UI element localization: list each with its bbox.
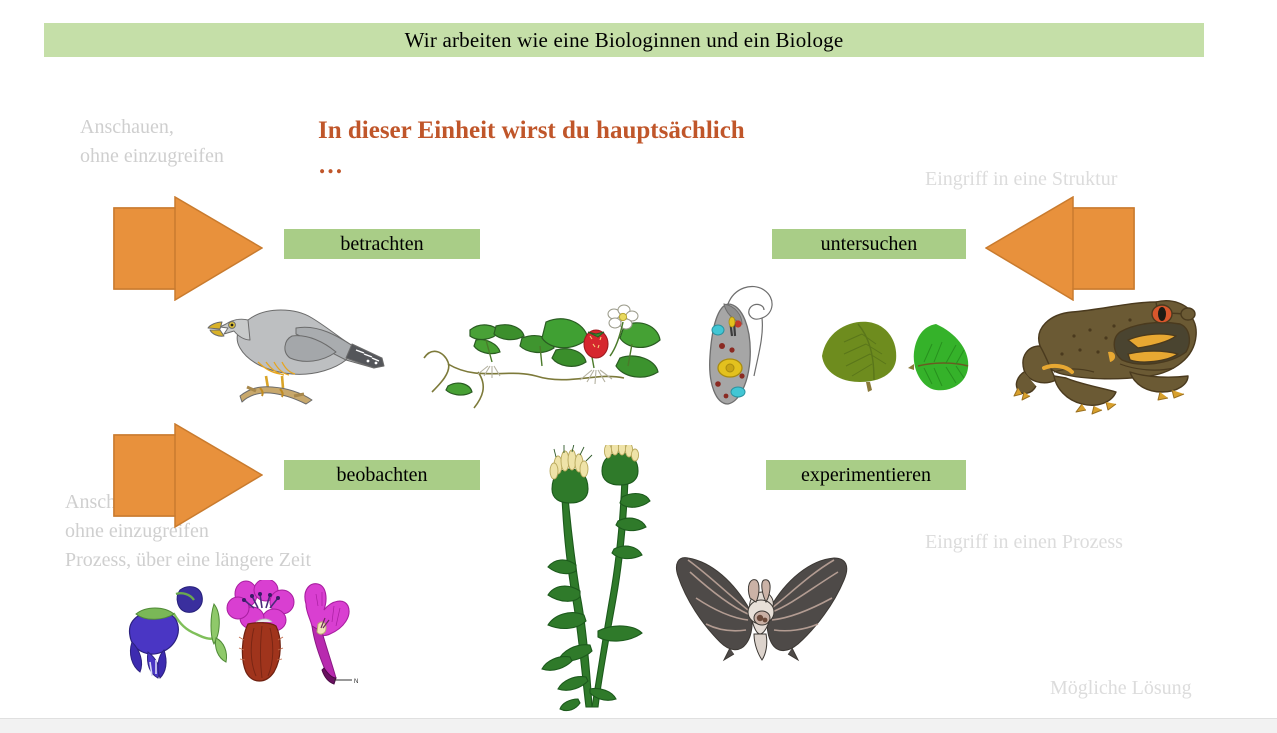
headline: In dieser Einheit wirst du hauptsächlich… — [318, 113, 918, 183]
term-label-beobachten: beobachten — [336, 464, 427, 487]
annotation-top-right: Eingriff in eine Struktur — [925, 165, 1117, 194]
term-box-untersuchen[interactable]: untersuchen — [772, 229, 966, 259]
annotation-top-left: Anschauen, ohne einzugreifen — [80, 113, 224, 171]
slide-canvas: Wir arbeiten wie eine Biologinnen und ei… — [0, 0, 1277, 733]
page-bottom-edge — [0, 718, 1277, 733]
illustration-cuckoo-bird — [196, 292, 386, 410]
slide-title-banner: Wir arbeiten wie eine Biologinnen und ei… — [44, 23, 1204, 57]
illustration-flower-dissection: Nektar — [118, 580, 358, 688]
illustration-tall-plant — [536, 445, 654, 715]
term-box-beobachten[interactable]: beobachten — [284, 460, 480, 490]
term-box-betrachten[interactable]: betrachten — [284, 229, 480, 259]
arrow-left-untersuchen-icon — [985, 196, 1135, 301]
term-box-experimentieren[interactable]: experimentieren — [766, 460, 966, 490]
term-label-experimentieren: experimentieren — [801, 464, 931, 487]
arrow-right-betrachten-icon — [113, 196, 263, 301]
term-label-betrachten: betrachten — [340, 233, 423, 256]
page-title: Wir arbeiten wie eine Biologinnen und ei… — [405, 28, 844, 53]
headline-text: In dieser Einheit wirst du hauptsächlich — [318, 117, 745, 144]
annotation-bottom-right: Eingriff in einen Prozess — [925, 528, 1123, 557]
arrow-right-beobachten-icon — [113, 423, 263, 528]
annotation-possible-solution: Mögliche Lösung — [1050, 674, 1192, 703]
term-label-untersuchen: untersuchen — [821, 233, 918, 256]
headline-ellipsis: … — [318, 148, 918, 183]
illustration-strawberry-plant — [418, 300, 668, 418]
illustration-bat — [668, 548, 858, 668]
illustration-toad — [1010, 288, 1210, 416]
illustration-two-leaves — [812, 312, 992, 398]
flower-nektar-label: Nektar — [354, 679, 358, 685]
illustration-euglena-cell — [694, 280, 794, 408]
